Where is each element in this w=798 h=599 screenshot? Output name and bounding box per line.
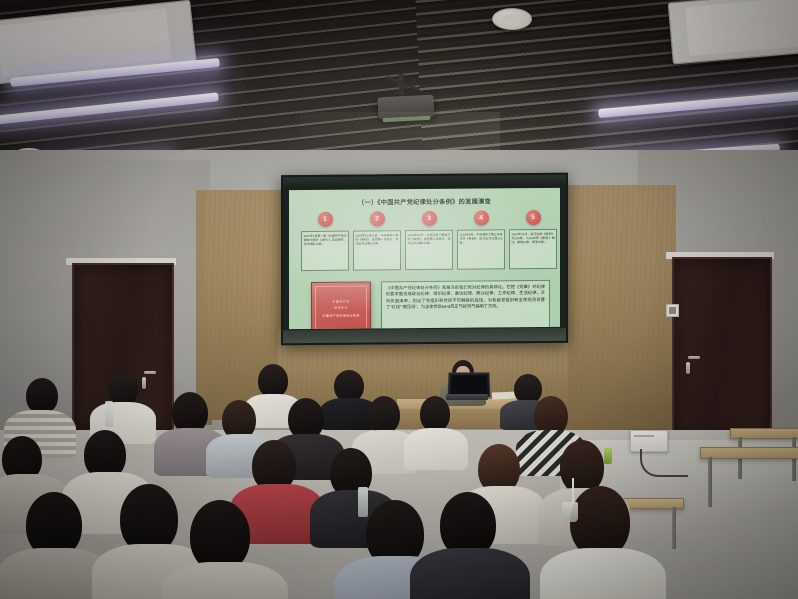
desk-leg (708, 457, 712, 507)
projection-screen: （一）《中国共产党纪律处分条例》的发展演变 1 1997年2月第一部《中国共产党… (281, 173, 568, 346)
screen-bottom-bar (283, 328, 566, 343)
slide-title: （一）《中国共产党纪律处分条例》的发展演变 (289, 196, 560, 207)
book-cover-image: 中国共产党 纪律处分 中国共产党纪律处分条例 人民出版社 (311, 281, 371, 329)
slide-paragraph-box: 《中国共产党纪律处分条例》就是当前我们党对纪律的具体化。它把《党章》对纪律的要求… (381, 280, 550, 329)
smoke-detector-icon (492, 8, 532, 30)
air-conditioner-vent-right (668, 0, 798, 65)
timeline-number-badge: 3 (422, 211, 437, 226)
timeline-text: 2015年10月，中央印发了新修订的《条例》，这是第二次修订，修订后共11章13… (408, 233, 451, 246)
audience-body (404, 428, 468, 470)
audience-head (258, 364, 288, 398)
door-handle-icon[interactable] (688, 356, 700, 359)
laptop-keyboard-base[interactable] (446, 394, 488, 400)
classroom-photo: （一）《中国共产党纪律处分条例》的发展演变 1 1997年2月第一部《中国共产党… (0, 0, 798, 599)
audience-head (420, 396, 450, 432)
timeline-number-badge: 1 (318, 212, 333, 227)
timeline-textbox: 2003年12月31日，中央颁布了新的《条例》，这是第一次修订，修订后共15章1… (353, 230, 401, 270)
timeline-item: 3 2015年10月，中央印发了新修订的《条例》，这是第二次修订，修订后共11章… (405, 211, 453, 270)
bench-leg (672, 507, 676, 549)
door-handle-icon[interactable] (686, 362, 690, 374)
door-right[interactable] (672, 257, 772, 439)
timeline-number-badge: 2 (370, 211, 385, 226)
drink-cup (562, 502, 578, 522)
timeline-textbox: 2023年12月，修订后的《条例》共158条，与2018年《条例》相比，新增16… (509, 229, 557, 269)
timeline-text: 2003年12月31日，中央颁布了新的《条例》，这是第一次修订，修订后共15章1… (356, 233, 399, 246)
audience-body (410, 548, 530, 599)
audience-head (26, 378, 58, 414)
audience-head (368, 396, 400, 434)
audience-body (540, 548, 666, 599)
green-bottle (604, 448, 612, 464)
timeline-number-badge: 5 (526, 210, 541, 225)
screen-top-bar (283, 175, 566, 189)
audience-body (162, 562, 288, 599)
timeline-textbox: 2018年8月，中央颁布了第三次修订的《条例》，修订后共11章142条。 (457, 229, 505, 269)
timeline-text: 2018年8月，中央颁布了第三次修订的《条例》，修订后共11章142条。 (460, 232, 503, 245)
book-title-line-1: 中国共产党 (312, 298, 370, 304)
water-bottle (358, 487, 368, 517)
door-handle-icon[interactable] (142, 377, 146, 389)
timeline-textbox: 2015年10月，中央印发了新修订的《条例》，这是第二次修订，修订后共11章13… (405, 230, 453, 270)
timeline-item: 2 2003年12月31日，中央颁布了新的《条例》，这是第一次修订，修订后共15… (353, 211, 401, 270)
ceiling-projector (377, 95, 434, 120)
slide-timeline: 1 1997年2月第一部《中国共产党纪律处分条例（试行）》正式颁布，共计8章17… (297, 210, 552, 274)
timeline-item: 5 2023年12月，修订后的《条例》共158条，与2018年《条例》相比，新增… (509, 210, 557, 269)
light-switch-panel[interactable] (666, 304, 679, 317)
timeline-textbox: 1997年2月第一部《中国共产党纪律处分条例（试行）》正式颁布，共计8章172条… (301, 231, 349, 271)
laptop-display (451, 375, 488, 394)
presentation-slide: （一）《中国共产党纪律处分条例》的发展演变 1 1997年2月第一部《中国共产党… (289, 188, 560, 329)
book-title-line-3: 中国共产党纪律处分条例 (312, 312, 370, 318)
desk-leg (792, 437, 796, 481)
empty-desk (700, 447, 798, 459)
timeline-item: 4 2018年8月，中央颁布了第三次修订的《条例》，修订后共11章142条。 (457, 210, 505, 269)
water-bottle (105, 401, 113, 427)
drink-straw (572, 478, 574, 504)
door-handle-icon[interactable] (144, 371, 156, 374)
timeline-item: 1 1997年2月第一部《中国共产党纪律处分条例（试行）》正式颁布，共计8章17… (301, 212, 349, 271)
slide-paragraph-text: 《中国共产党纪律处分条例》就是当前我们党对纪律的具体化。它把《党章》对纪律的要求… (386, 284, 545, 311)
book-title-line-2: 纪律处分 (312, 305, 370, 310)
timeline-text: 2023年12月，修订后的《条例》共158条，与2018年《条例》相比，新增16… (512, 232, 555, 245)
timeline-text: 1997年2月第一部《中国共产党纪律处分条例（试行）》正式颁布，共计8章172条… (304, 234, 347, 247)
power-cable (640, 449, 688, 477)
timeline-number-badge: 4 (474, 210, 489, 225)
